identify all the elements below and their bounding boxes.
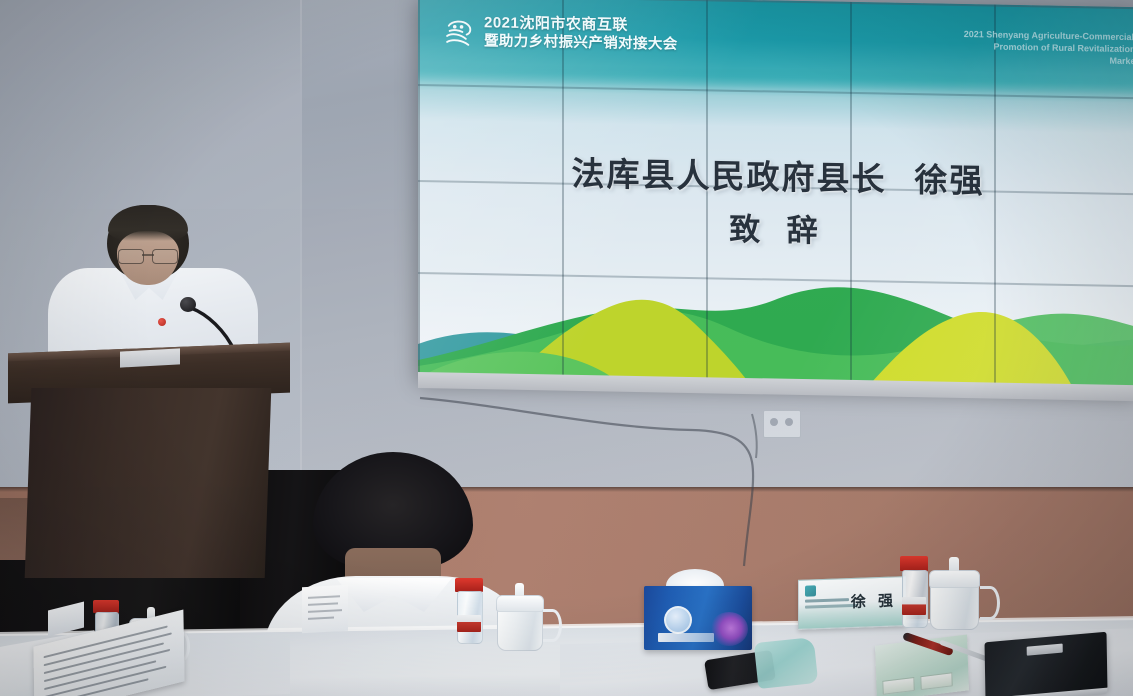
conference-photo-scene: 2021沈阳市农商互联 暨助力乡村振兴产销对接大会 2021 Shenyang … xyxy=(0,0,1133,696)
notebook-plate xyxy=(1027,644,1063,656)
podium-speech-paper xyxy=(120,348,180,367)
main-title-name: 徐强 xyxy=(915,161,985,199)
main-title-role: 法库县人民政府县长 xyxy=(572,155,887,198)
name-card-org-line1 xyxy=(805,598,849,603)
teacup-body xyxy=(930,581,979,630)
tissue-box-badge xyxy=(664,606,692,634)
teacup-handle xyxy=(980,586,1000,621)
red-lapel-pin xyxy=(158,318,166,326)
teacup-lid xyxy=(929,570,980,588)
teacup-right[interactable] xyxy=(930,570,990,630)
face-mask[interactable] xyxy=(754,637,818,689)
water-bottle-right[interactable] xyxy=(900,556,928,626)
name-card-name: 徐 强 xyxy=(851,589,897,612)
bottle-cap xyxy=(455,578,483,592)
wall-power-outlet[interactable] xyxy=(763,410,801,438)
podium-body xyxy=(25,388,272,578)
rolling-hills-graphic xyxy=(418,248,1133,391)
name-card[interactable]: 徐 强 xyxy=(798,576,906,630)
notebook-pages xyxy=(985,688,1107,696)
brochure-label-a xyxy=(882,677,914,695)
eyeglasses-icon xyxy=(118,249,178,263)
name-card-org-line2 xyxy=(805,604,857,609)
teacup-body xyxy=(497,605,543,651)
bottle-label xyxy=(457,615,482,632)
tissue-box-brand-text xyxy=(658,633,714,642)
tissue-box[interactable] xyxy=(644,586,752,650)
teacup-knob xyxy=(949,557,959,571)
video-wall-banner-title-cn: 2021沈阳市农商互联 暨助力乡村振兴产销对接大会 xyxy=(484,14,678,54)
bottle-label xyxy=(902,597,927,615)
tissue-box-flower-graphic xyxy=(710,612,748,646)
video-wall-banner-title-en: 2021 Shenyang Agriculture-Commercial Int… xyxy=(964,28,1133,68)
teacup-knob xyxy=(515,583,524,596)
brochure-label-b xyxy=(920,672,952,690)
led-video-wall: 2021沈阳市农商互联 暨助力乡村振兴产销对接大会 2021 Shenyang … xyxy=(418,0,1133,391)
notebook[interactable] xyxy=(985,632,1108,696)
teacup-lid xyxy=(496,595,544,612)
banner-title-line2: 暨助力乡村振兴产销对接大会 xyxy=(484,32,678,54)
video-wall-main-title: 法库县人民政府县长徐强 致 辞 xyxy=(418,144,1133,256)
water-bottle-center[interactable] xyxy=(455,578,483,642)
teacup-handle xyxy=(543,609,562,642)
wall-seam xyxy=(300,0,302,520)
conference-emblem-logo xyxy=(442,15,476,50)
teacup-center[interactable] xyxy=(497,595,553,651)
paper-sheet-center-left[interactable] xyxy=(302,585,348,633)
microphone-capsule-icon xyxy=(180,297,196,312)
name-card-logo-icon xyxy=(805,585,816,596)
